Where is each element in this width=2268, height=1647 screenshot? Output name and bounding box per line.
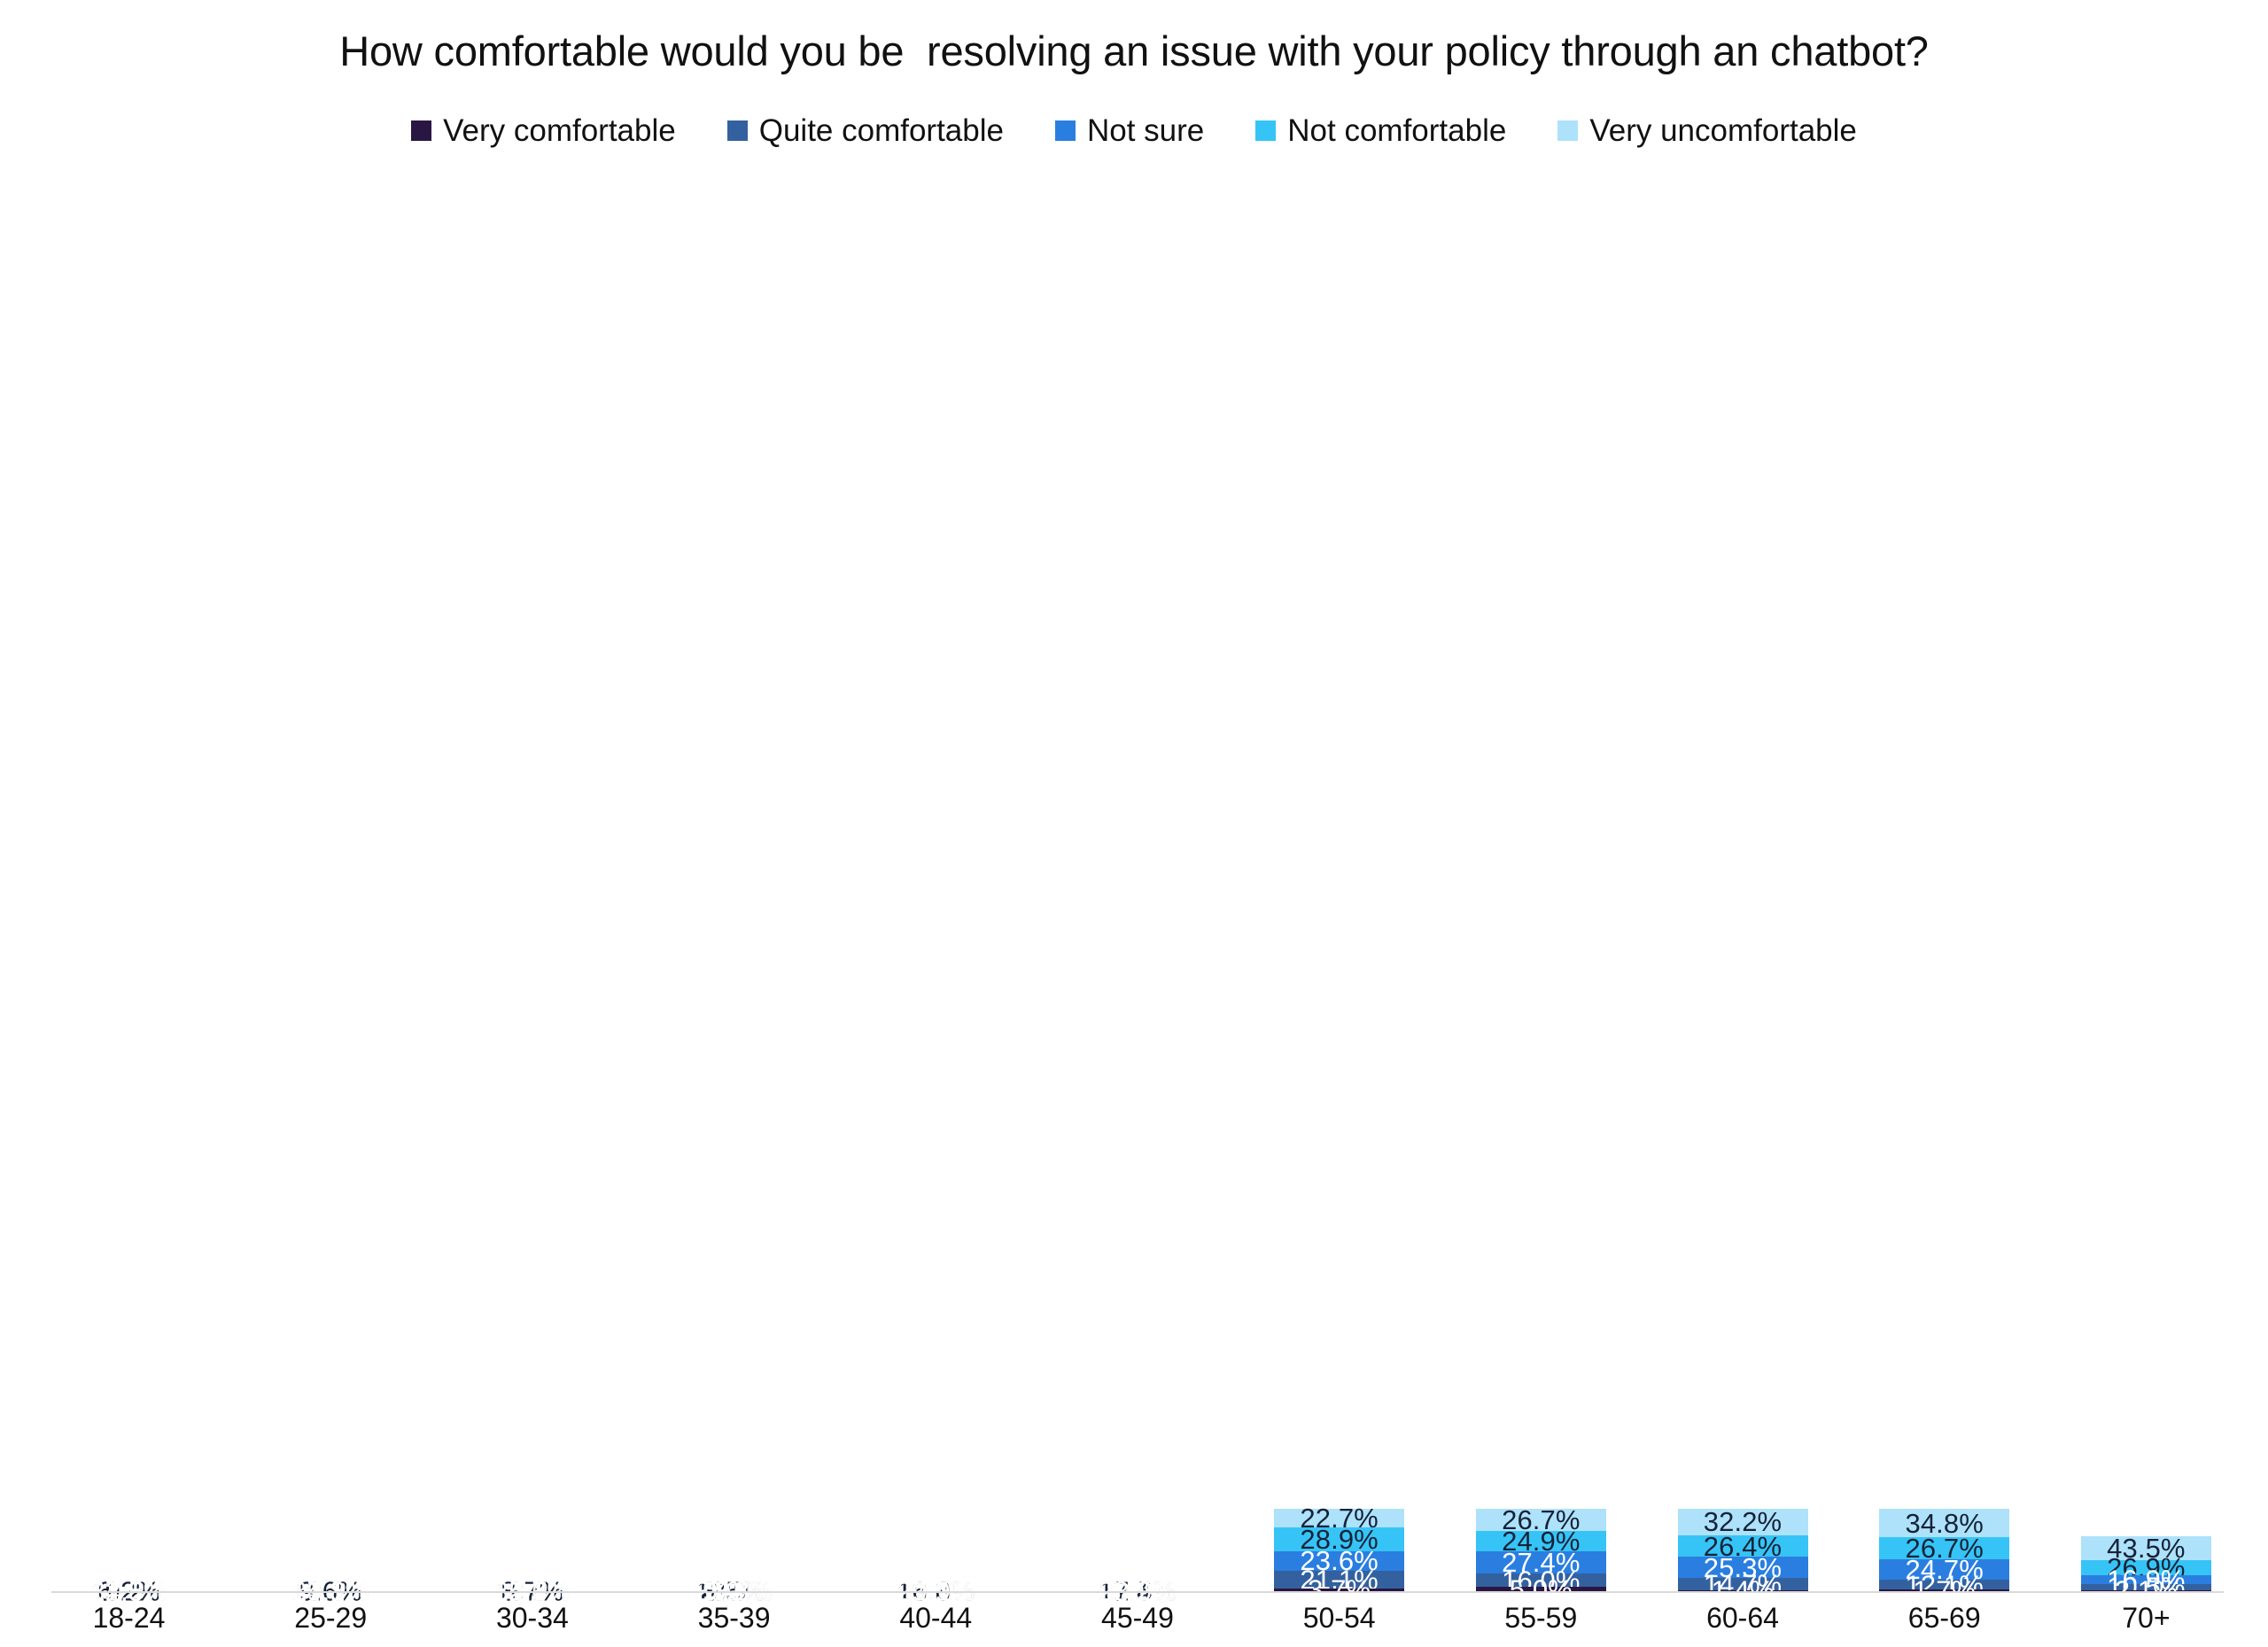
legend-item-label: Quite comfortable	[759, 115, 1004, 146]
bar-group: 43.5%26.9%16.9%10.5%2.1%	[2081, 198, 2211, 1591]
legend-item-1[interactable]: Quite comfortable	[727, 115, 1004, 146]
x-axis-line	[51, 1591, 2224, 1593]
bar-group: 34.8%26.7%24.7%12.1%1.7%	[1879, 198, 2009, 1591]
x-axis-tick-label: 18-24	[64, 1602, 194, 1635]
bar-group: 22.7%28.9%23.6%21.1%3.7%	[1274, 198, 1404, 1591]
stacked-bar-chart: How comfortable would you be resolving a…	[0, 0, 2268, 1647]
bar-segment-value-label: 5.0%	[1510, 1575, 1573, 1603]
bar-group: 32.2%26.4%25.3%14.7%1.4%	[1678, 198, 1808, 1591]
legend-swatch-icon	[1055, 120, 1076, 141]
bar-group: 8.7%18.8%22.6%35.3%14.7%	[467, 198, 597, 1591]
legend-item-label: Not sure	[1087, 115, 1204, 146]
legend-swatch-icon	[1557, 120, 1578, 141]
x-axis-tick-label: 60-64	[1678, 1602, 1808, 1635]
legend-item-label: Very comfortable	[443, 115, 676, 146]
bar-stack: 34.8%26.7%24.7%12.1%1.7%	[1879, 1509, 2009, 1591]
chart-title: How comfortable would you be resolving a…	[0, 27, 2268, 75]
legend-swatch-icon	[1255, 120, 1276, 141]
legend-swatch-icon	[727, 120, 748, 141]
x-axis-tick-labels: 18-2425-2930-3435-3940-4445-4950-5455-59…	[64, 1602, 2211, 1635]
chart-legend: Very comfortableQuite comfortableNot sur…	[0, 115, 2268, 146]
legend-item-2[interactable]: Not sure	[1055, 115, 1204, 146]
bar-group: 6.2%19.2%22.5%37.8%14.3%	[64, 198, 194, 1591]
bar-stack: 43.5%26.9%16.9%10.5%2.1%	[2081, 1536, 2211, 1591]
x-axis-tick-label: 55-59	[1476, 1602, 1606, 1635]
x-axis-tick-label: 50-54	[1274, 1602, 1404, 1635]
bar-group: 8.5%18.9%27.6%35.2%9.9%	[669, 198, 799, 1591]
bar-group: 26.7%24.9%27.4%16.0%5.0%	[1476, 198, 1606, 1591]
legend-item-label: Very uncomfortable	[1589, 115, 1857, 146]
bar-group: 17.4%22.5%23.9%28.2%8.0%	[1072, 198, 1202, 1591]
x-axis-tick-label: 35-39	[669, 1602, 799, 1635]
x-axis-tick-label: 25-29	[266, 1602, 396, 1635]
legend-item-label: Not comfortable	[1287, 115, 1506, 146]
legend-item-3[interactable]: Not comfortable	[1255, 115, 1506, 146]
bar-stack: 32.2%26.4%25.3%14.7%1.4%	[1678, 1509, 1808, 1591]
plot-area: 6.2%19.2%22.5%37.8%14.3%9.6%19.3%17.8%39…	[64, 198, 2211, 1591]
legend-item-4[interactable]: Very uncomfortable	[1557, 115, 1857, 146]
legend-swatch-icon	[411, 120, 431, 141]
x-axis-tick-label: 30-34	[467, 1602, 597, 1635]
bar-stack: 22.7%28.9%23.6%21.1%3.7%	[1274, 1509, 1404, 1591]
bar-group: 9.6%19.3%17.8%39.3%14.1%	[266, 198, 396, 1591]
bar-stack: 26.7%24.9%27.4%16.0%5.0%	[1476, 1509, 1606, 1591]
legend-item-0[interactable]: Very comfortable	[411, 115, 676, 146]
x-axis-tick-label: 45-49	[1072, 1602, 1202, 1635]
x-axis-tick-label: 70+	[2081, 1602, 2211, 1635]
x-axis-tick-label: 40-44	[871, 1602, 1001, 1635]
bar-group: 16.3%19.0%27.9%29.1%7.7%	[871, 198, 1001, 1591]
bar-segment-value-label: 3.7%	[1308, 1576, 1371, 1604]
x-axis-tick-label: 65-69	[1879, 1602, 2009, 1635]
